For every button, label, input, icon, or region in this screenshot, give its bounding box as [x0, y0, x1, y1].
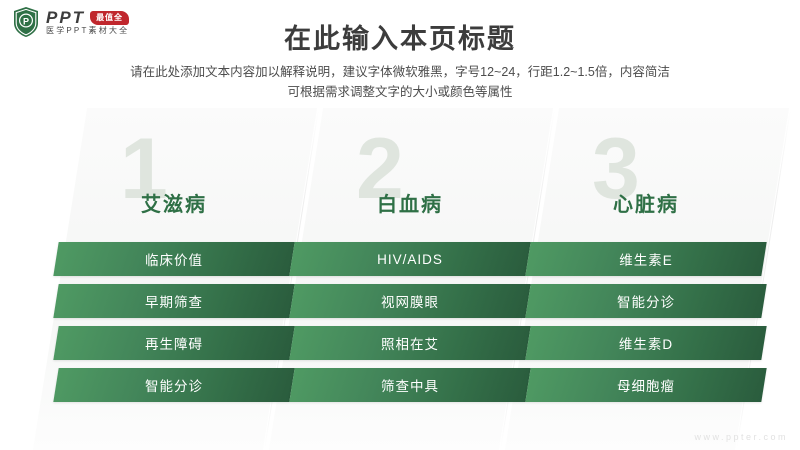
watermark: www.ppter.com — [694, 432, 788, 442]
bar-label: 再生障碍 — [56, 326, 292, 360]
bar-label: 临床价值 — [56, 242, 292, 276]
list-item[interactable]: 视网膜眼 — [292, 284, 528, 318]
list-item[interactable]: 维生素E — [528, 242, 764, 276]
column-3: 3 心脏病 维生素E 智能分诊 维生素D 母细胞瘤 — [528, 108, 764, 450]
column-1-items: 临床价值 早期筛查 再生障碍 智能分诊 — [56, 242, 292, 410]
list-item[interactable]: 筛查中具 — [292, 368, 528, 402]
column-1: 1 艾滋病 临床价值 早期筛查 再生障碍 智能分诊 — [56, 108, 292, 450]
bar-label: 维生素D — [528, 326, 764, 360]
page-title: 在此输入本页标题 — [0, 17, 800, 56]
list-item[interactable]: 母细胞瘤 — [528, 368, 764, 402]
bar-label: HIV/AIDS — [292, 242, 528, 276]
list-item[interactable]: 再生障碍 — [56, 326, 292, 360]
bar-label: 智能分诊 — [528, 284, 764, 318]
list-item[interactable]: 早期筛查 — [56, 284, 292, 318]
list-item[interactable]: HIV/AIDS — [292, 242, 528, 276]
page-subtitle: 请在此处添加文本内容加以解释说明，建议字体微软雅黑，字号12~24，行距1.2~… — [0, 62, 800, 102]
column-2-items: HIV/AIDS 视网膜眼 照相在艾 筛查中具 — [292, 242, 528, 410]
bar-label: 维生素E — [528, 242, 764, 276]
subtitle-line-1: 请在此处添加文本内容加以解释说明，建议字体微软雅黑，字号12~24，行距1.2~… — [0, 62, 800, 82]
subtitle-line-2: 可根据需求调整文字的大小或颜色等属性 — [0, 82, 800, 102]
list-item[interactable]: 维生素D — [528, 326, 764, 360]
column-2: 2 白血病 HIV/AIDS 视网膜眼 照相在艾 筛查中具 — [292, 108, 528, 450]
column-3-items: 维生素E 智能分诊 维生素D 母细胞瘤 — [528, 242, 764, 410]
list-item[interactable]: 智能分诊 — [528, 284, 764, 318]
bar-label: 早期筛查 — [56, 284, 292, 318]
column-1-heading: 艾滋病 — [56, 188, 292, 217]
column-2-heading: 白血病 — [292, 188, 528, 217]
column-3-heading: 心脏病 — [528, 188, 764, 217]
list-item[interactable]: 照相在艾 — [292, 326, 528, 360]
columns-container: 1 艾滋病 临床价值 早期筛查 再生障碍 智能分诊 2 白血病 — [0, 108, 800, 450]
bar-label: 智能分诊 — [56, 368, 292, 402]
list-item[interactable]: 智能分诊 — [56, 368, 292, 402]
bar-label: 视网膜眼 — [292, 284, 528, 318]
bar-label: 照相在艾 — [292, 326, 528, 360]
bar-label: 筛查中具 — [292, 368, 528, 402]
bar-label: 母细胞瘤 — [528, 368, 764, 402]
list-item[interactable]: 临床价值 — [56, 242, 292, 276]
